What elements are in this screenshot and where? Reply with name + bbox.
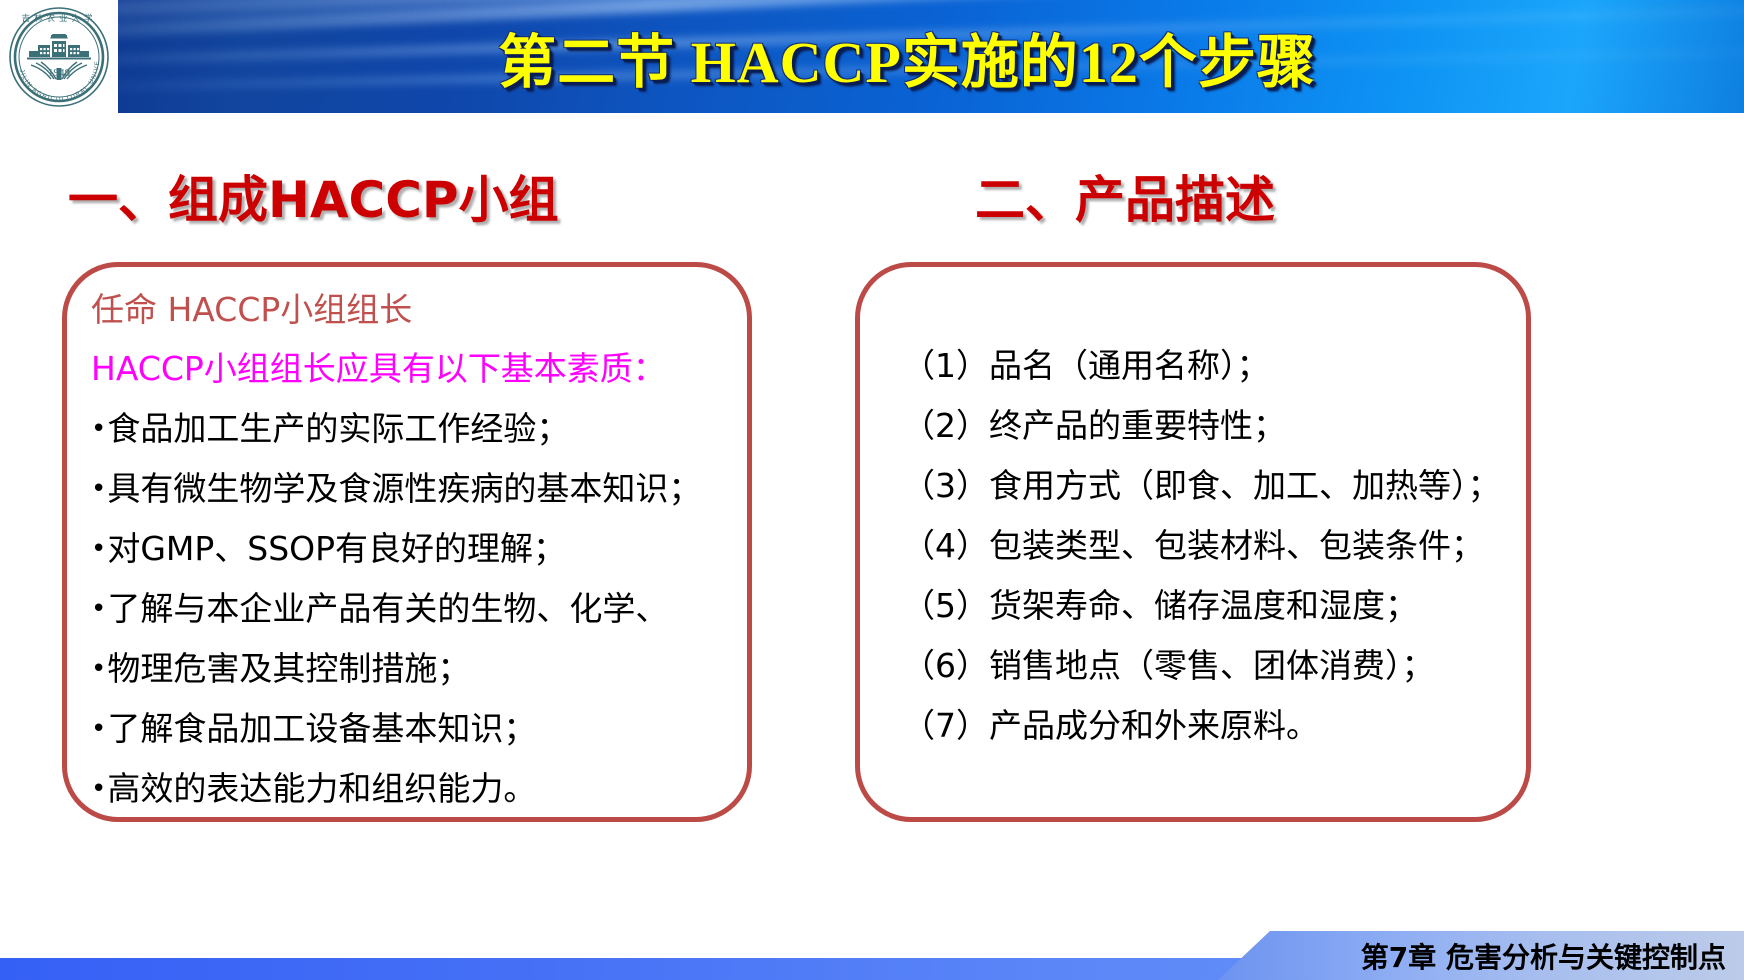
list-item: 食品加工生产的实际工作经验； — [91, 412, 569, 445]
chapter-footer-chip: 第7章 危害分析与关键控制点 — [1218, 931, 1744, 980]
list-item: 具有微生物学及食源性疾病的基本知识； — [91, 472, 701, 505]
list-item: HACCP小组组长应具有以下基本素质： — [91, 352, 666, 385]
svg-text:1948: 1948 — [48, 67, 71, 79]
chapter-label: 第7章 危害分析与关键控制点 — [1361, 936, 1726, 976]
list-item: （3）食用方式（即食、加工、加热等）； — [902, 469, 1501, 502]
section-heading-left: 一、组成HACCP小组 — [68, 160, 559, 232]
list-item: 对GMP、SSOP有良好的理解； — [91, 532, 566, 565]
list-item: 了解食品加工设备基本知识； — [91, 712, 536, 745]
list-item: （1）品名（通用名称）； — [902, 349, 1270, 382]
list-item: 物理危害及其控制措施； — [91, 652, 470, 685]
list-item: （2）终产品的重要特性； — [902, 409, 1286, 442]
section-heading-right: 二、产品描述 — [975, 160, 1275, 232]
university-logo: 1948 吉林农业大学 JILIN AGRICULTURAL UNIVERSIT… — [0, 0, 118, 113]
slide-title: 第二节 HACCP实施的12个步骤 — [0, 0, 1744, 113]
list-item: （5）货架寿命、储存温度和湿度； — [902, 589, 1418, 622]
haccp-team-panel: 任命 HACCP小组组长 HACCP小组组长应具有以下基本素质： 食品加工生产的… — [62, 262, 752, 822]
list-item: （4）包装类型、包装材料、包装条件； — [902, 529, 1484, 562]
list-item: 任命 HACCP小组组长 — [91, 293, 412, 326]
list-item: 高效的表达能力和组织能力。 — [91, 772, 536, 805]
jilin-agricultural-university-emblem-icon: 1948 吉林农业大学 JILIN AGRICULTURAL UNIVERSIT… — [7, 5, 111, 109]
slide-header: 第二节 HACCP实施的12个步骤 — [0, 0, 1744, 113]
list-item: 了解与本企业产品有关的生物、化学、 — [91, 592, 668, 625]
list-item: （7）产品成分和外来原料。 — [902, 709, 1319, 742]
product-description-panel: （1）品名（通用名称）； （2）终产品的重要特性； （3）食用方式（即食、加工、… — [855, 262, 1531, 822]
list-item: （6）销售地点（零售、团体消费）； — [902, 649, 1435, 682]
svg-text:吉林农业大学: 吉林农业大学 — [21, 13, 96, 24]
